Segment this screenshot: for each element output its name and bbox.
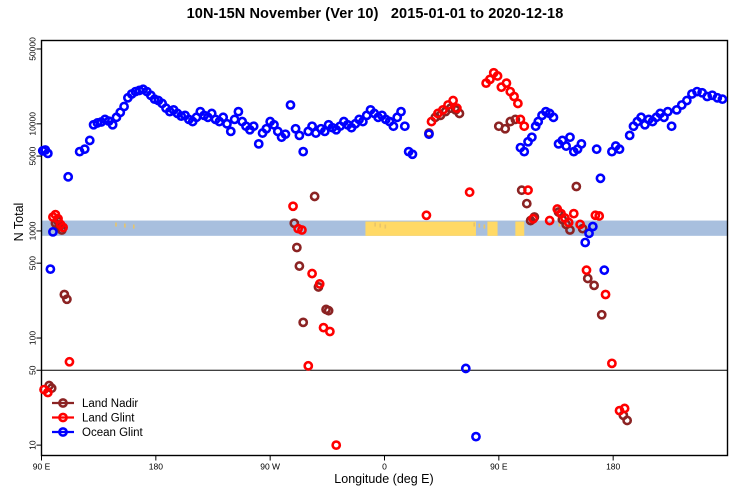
svg-text:500: 500 — [28, 256, 38, 270]
svg-text:0: 0 — [382, 462, 387, 472]
svg-text:90 E: 90 E — [33, 462, 51, 472]
plot-frame — [42, 41, 728, 456]
x-axis-label: Longitude (deg E) — [41, 472, 727, 486]
svg-text:10: 10 — [28, 440, 38, 450]
svg-text:180: 180 — [606, 462, 620, 472]
chart-figure: 10N-15N November (Ver 10) 2015-01-01 to … — [0, 0, 750, 500]
legend-item-label: Land Glint — [82, 413, 135, 425]
svg-text:50: 50 — [28, 365, 38, 375]
svg-text:90 W: 90 W — [260, 462, 280, 472]
y-axis-label: N Total — [12, 162, 26, 282]
x-axis-ticks: 90 E18090 W090 E180 — [33, 456, 621, 472]
svg-text:1000: 1000 — [28, 221, 38, 240]
data-points — [39, 69, 726, 449]
legend-item-label: Land Nadir — [82, 398, 138, 410]
svg-text:90 E: 90 E — [490, 462, 508, 472]
chart-legend: Land NadirLand GlintOcean Glint — [52, 398, 144, 439]
legend-item-label: Ocean Glint — [82, 427, 144, 439]
svg-text:100: 100 — [28, 331, 38, 345]
coverage-bands — [42, 221, 728, 236]
scatter-plot: 1050100500100050001000050000 90 E18090 W… — [0, 0, 750, 500]
svg-text:50000: 50000 — [28, 37, 38, 61]
svg-text:180: 180 — [149, 462, 163, 472]
svg-text:5000: 5000 — [28, 146, 38, 165]
y-axis-ticks: 1050100500100050001000050000 — [28, 37, 42, 450]
svg-text:10000: 10000 — [28, 112, 38, 136]
